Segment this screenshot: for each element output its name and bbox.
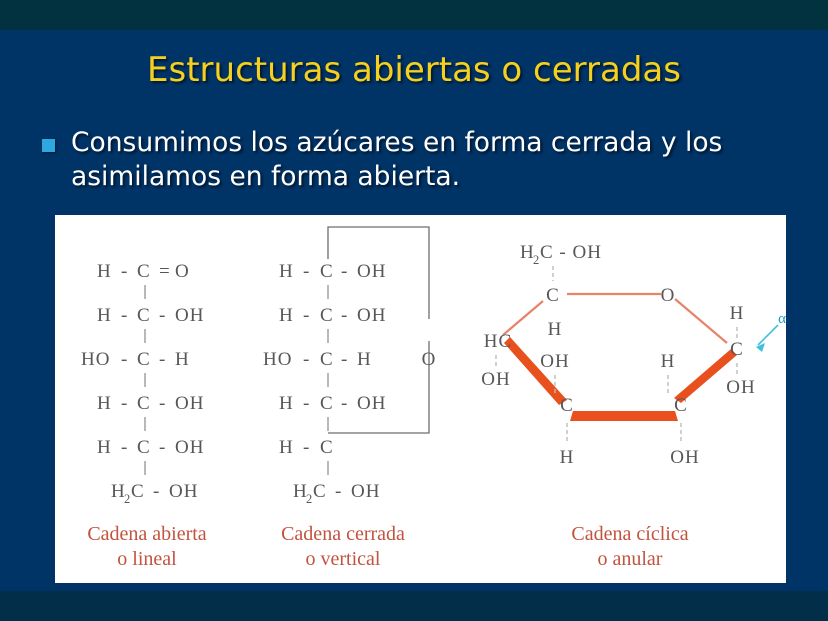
- bond-label: -: [341, 305, 348, 326]
- ring-bond-front-bottom-wedge: [570, 411, 678, 421]
- cyclic-chain-caption-line2: o anular: [598, 548, 663, 570]
- bond-label: -: [159, 349, 166, 370]
- atom-label: H: [97, 305, 112, 326]
- atom-subscript: 2: [306, 492, 312, 506]
- substituent-label: H: [661, 351, 676, 372]
- bond-label: -: [153, 481, 160, 502]
- atom-label: C: [320, 437, 334, 458]
- bond-label: -: [303, 305, 310, 326]
- atom-label: H: [97, 261, 112, 282]
- bond-label: -: [341, 261, 348, 282]
- bullet-marker-icon: [42, 139, 55, 152]
- atom-label: C: [560, 395, 574, 416]
- ring-bond-back-left: [503, 301, 543, 335]
- atom-label: C - OH: [540, 242, 602, 263]
- atom-subscript: 2: [533, 253, 539, 267]
- atom-label: O: [175, 261, 190, 282]
- atom-label: C: [137, 261, 151, 282]
- bridge-oxygen-label: O: [422, 349, 437, 370]
- atom-label: OH: [481, 369, 510, 390]
- atom-label: OH: [175, 393, 204, 414]
- bond-label: -: [121, 261, 128, 282]
- alpha-arrow-line: [758, 325, 778, 345]
- bond-label: -: [303, 349, 310, 370]
- alpha-label: α: [778, 311, 786, 327]
- substituent-label: H: [548, 319, 563, 340]
- substituent-label: OH: [670, 447, 699, 468]
- bond-label: -: [121, 393, 128, 414]
- atom-label: OH: [175, 305, 204, 326]
- bond-label: -: [121, 437, 128, 458]
- atom-label: C: [320, 261, 334, 282]
- atom-label: H: [279, 261, 294, 282]
- bond-label: -: [121, 305, 128, 326]
- substituent-label: OH: [726, 377, 755, 398]
- open-chain-caption-line1: Cadena abierta: [87, 523, 206, 545]
- slide-bottom-band: [0, 591, 828, 621]
- alpha-annotation: α: [756, 311, 786, 352]
- atom-label: H: [97, 393, 112, 414]
- atom-label: H: [279, 305, 294, 326]
- substituent-label: H: [560, 447, 575, 468]
- ring-bond-back-right: [675, 299, 727, 343]
- slide-top-band: [0, 0, 828, 30]
- atom-label: C: [320, 349, 334, 370]
- chemistry-figure-panel: H - C = O H - C - OH HO - C - H: [55, 215, 786, 583]
- atom-label: C: [137, 305, 151, 326]
- atom-label: C: [674, 395, 688, 416]
- page-title: Estructuras abiertas o cerradas: [0, 50, 828, 90]
- bond-label: -: [159, 305, 166, 326]
- atom-label: H: [175, 349, 190, 370]
- atom-label: HC: [484, 331, 512, 352]
- atom-label: C: [546, 285, 560, 306]
- atom-label: HO: [263, 349, 292, 370]
- atom-label: OH: [351, 481, 380, 502]
- cyclic-chain-caption-line1: Cadena cíclica: [571, 523, 688, 545]
- atom-label: C: [730, 339, 744, 360]
- bond-label: -: [303, 437, 310, 458]
- open-chain-caption-line2: o lineal: [117, 548, 177, 570]
- bullet-list-item: Consumimos los azúcares en forma cerrada…: [42, 126, 794, 194]
- atom-label: OH: [175, 437, 204, 458]
- open-chain-diagram: H - C = O H - C - OH HO - C - H: [81, 261, 207, 570]
- closed-chain-caption-line1: Cadena cerrada: [281, 523, 405, 545]
- bond-label: -: [341, 349, 348, 370]
- bond-label: -: [335, 481, 342, 502]
- atom-label: OH: [357, 305, 386, 326]
- bond-label: -: [159, 393, 166, 414]
- bond-label: -: [121, 349, 128, 370]
- bond-label: -: [341, 393, 348, 414]
- atom-label: H: [279, 437, 294, 458]
- alpha-arrow-head: [756, 343, 765, 352]
- atom-label: C: [137, 349, 151, 370]
- atom-label: OH: [357, 393, 386, 414]
- bond-label: -: [159, 437, 166, 458]
- atom-label: C: [313, 481, 327, 502]
- cyclic-chain-diagram: H 2 C - OH C O HC OH C C: [481, 242, 786, 570]
- atom-label: C: [320, 393, 334, 414]
- atom-label: HO: [81, 349, 110, 370]
- slide-canvas: Estructuras abiertas o cerradas Consumim…: [0, 0, 828, 621]
- atom-label: H: [279, 393, 294, 414]
- bond-label: -: [303, 393, 310, 414]
- atom-label: C: [137, 437, 151, 458]
- bond-label: =: [159, 261, 171, 282]
- atom-label: C: [320, 305, 334, 326]
- atom-subscript: 2: [124, 492, 130, 506]
- bullet-item-label: Consumimos los azúcares en forma cerrada…: [71, 126, 794, 194]
- atom-label: OH: [169, 481, 198, 502]
- atom-label: C: [131, 481, 145, 502]
- bond-label: -: [303, 261, 310, 282]
- ring-oxygen-label: O: [661, 285, 676, 306]
- substituent-label: H: [730, 303, 745, 324]
- atom-label: H: [357, 349, 372, 370]
- closed-chain-caption-line2: o vertical: [306, 548, 381, 570]
- atom-label: C: [137, 393, 151, 414]
- closed-chain-diagram: H - C - OH H - C - OH HO - C - H O: [263, 227, 436, 570]
- atom-label: OH: [357, 261, 386, 282]
- atom-label: H: [97, 437, 112, 458]
- substituent-label: OH: [540, 351, 569, 372]
